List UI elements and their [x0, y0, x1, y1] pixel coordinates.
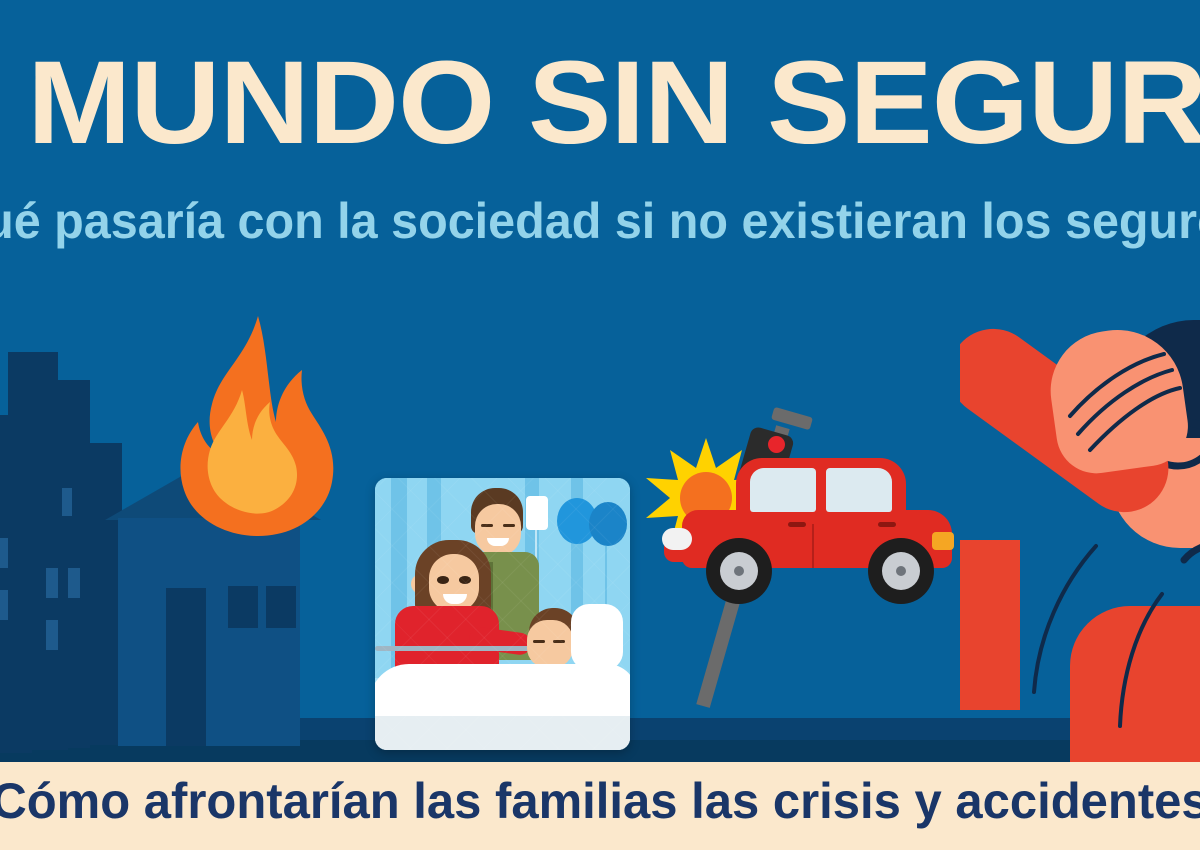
bed-base	[375, 716, 630, 750]
house-door	[166, 588, 206, 746]
man-mouth	[1178, 534, 1200, 568]
car-door-handle	[788, 522, 806, 527]
house-window	[266, 586, 296, 628]
illustration-scene	[0, 290, 1200, 762]
child-face	[527, 620, 573, 668]
window	[62, 488, 72, 516]
mother-eye	[437, 576, 449, 584]
page-title: UN MUNDO SIN SEGUROS	[0, 44, 1200, 162]
bed-rail	[375, 646, 545, 651]
infographic-poster: UN MUNDO SIN SEGUROS ¿Qué pasaría con la…	[0, 0, 1200, 850]
window	[68, 568, 80, 598]
window	[46, 620, 58, 650]
banner-caption-text: ¿Cómo afrontarían las familias las crisi…	[0, 776, 1200, 826]
header-block: UN MUNDO SIN SEGUROS ¿Qué pasaría con la…	[0, 0, 1200, 290]
worried-man	[960, 290, 1200, 762]
car-window-rear	[826, 468, 892, 512]
car-door-seam	[812, 524, 814, 568]
car-window-front	[750, 468, 816, 512]
child-eye	[553, 640, 565, 643]
child-eye	[533, 640, 545, 643]
window	[46, 568, 58, 598]
car-pillar	[818, 460, 823, 516]
mother-eye	[459, 576, 471, 584]
iv-bag-icon	[526, 496, 548, 530]
house-body	[118, 518, 300, 746]
window	[0, 538, 8, 568]
page-subtitle: ¿Qué pasaría con la sociedad si no exist…	[0, 196, 1200, 246]
bottom-banner: ¿Cómo afrontarían las familias las crisi…	[0, 762, 1200, 850]
page-title-text: UN MUNDO SIN SEGUROS	[0, 44, 1200, 162]
father-eye	[503, 524, 515, 527]
traffic-light-red	[768, 436, 785, 453]
page-subtitle-text: ¿Qué pasaría con la sociedad si no exist…	[0, 196, 1200, 246]
window	[0, 590, 8, 620]
car-headlight	[662, 528, 692, 550]
man-collar-seam	[1088, 590, 1200, 730]
car-door-handle	[878, 522, 896, 527]
car-taillight	[932, 532, 954, 550]
house-window	[228, 586, 258, 628]
man-fingers	[1056, 338, 1192, 468]
fire-flame-inner-icon	[186, 388, 310, 520]
car-crash-scene	[640, 290, 990, 762]
burning-house	[100, 290, 360, 762]
balloon	[589, 502, 627, 546]
father-eye	[481, 524, 493, 527]
pillow	[571, 604, 623, 670]
father-face	[475, 504, 521, 556]
banner-caption: ¿Cómo afrontarían las familias las crisi…	[0, 776, 1200, 826]
hospital-photo-card	[375, 478, 630, 750]
car-hub-center	[734, 566, 744, 576]
car-hub-center	[896, 566, 906, 576]
